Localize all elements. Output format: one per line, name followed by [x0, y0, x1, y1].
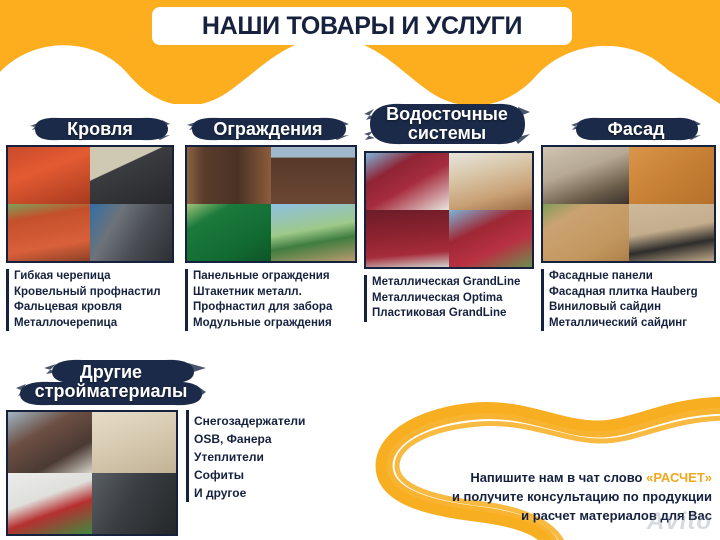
list-item: Профнастил для забора [193, 300, 357, 316]
photo-dark-soffit [92, 473, 176, 534]
category-label-drainage-line2: системы [408, 124, 486, 143]
list-item: Металлический сайдинг [549, 316, 716, 332]
category-label-roofing: Кровля [67, 120, 133, 139]
item-list-facade: Фасадные панели Фасадная плитка Hauberg … [541, 269, 716, 331]
page-title-badge: НАШИ ТОВАРЫ И УСЛУГИ [152, 7, 572, 45]
list-item: OSB, Фанера [194, 430, 305, 448]
photo-green-profile-fence [187, 204, 271, 261]
category-badge-fencing: Ограждения [187, 116, 349, 142]
photo-grid-other-materials [6, 410, 178, 536]
photo-red-shingle-house [8, 204, 90, 261]
category-badge-roofing: Кровля [30, 116, 170, 142]
category-card-roofing[interactable]: Кровля Гибкая черепица Кровельный профна… [6, 116, 174, 331]
photo-dark-metal-roof [90, 147, 172, 204]
list-item: Металлическая GrandLine [372, 275, 534, 291]
list-item: Модульные ограждения [193, 316, 357, 332]
photo-beige-siding-house [629, 204, 715, 261]
category-card-fencing[interactable]: Ограждения Панельные ограждения Штакетни… [185, 116, 357, 331]
category-badge-drainage: Водосточные системы [364, 100, 530, 148]
item-list-drainage: Металлическая GrandLine Металлическая Op… [364, 275, 534, 322]
list-item: Металлическая Optima [372, 291, 534, 307]
category-label-other-materials-line2: стройматериалы [35, 382, 188, 401]
page-title: НАШИ ТОВАРЫ И УСЛУГИ [202, 12, 522, 41]
photo-osb-plywood-stack [92, 412, 176, 473]
item-list-roofing: Гибкая черепица Кровельный профнастил Фа… [6, 269, 174, 331]
list-item: Фасадная плитка Hauberg [549, 285, 716, 301]
photo-brick-tile-facade [543, 204, 629, 261]
list-item: Пластиковая GrandLine [372, 306, 534, 322]
cta-line-1: Напишите нам в чат слово «РАСЧЕТ» [292, 468, 712, 487]
cta-keyword-raschet: «РАСЧЕТ» [646, 470, 712, 485]
photo-grid-roofing [6, 145, 174, 263]
list-item: Металлочерепица [14, 316, 174, 332]
photo-brown-corrugated-fence [271, 147, 355, 204]
list-item: Панельные ограждения [193, 269, 357, 285]
photo-stone-facade-house [543, 147, 629, 204]
category-label-other-materials: Другие [80, 363, 142, 382]
photo-brick-wall-downpipe [449, 153, 532, 210]
photo-red-tile-roof [8, 147, 90, 204]
photo-red-roof-gutter [366, 153, 449, 210]
photo-grid-facade [541, 145, 716, 263]
category-card-other-materials[interactable]: Другие стройматериалы Снегозадержатели [6, 358, 326, 536]
category-card-drainage[interactable]: Водосточные системы Металлическая GrandL… [364, 100, 534, 322]
photo-brown-picket-fence [187, 147, 271, 204]
photo-wood-siding-window [629, 147, 715, 204]
list-item: И другое [194, 484, 305, 502]
category-badge-other-materials: Другие стройматериалы [16, 358, 206, 406]
list-item: Фальцевая кровля [14, 300, 174, 316]
list-item: Утеплители [194, 448, 305, 466]
list-item: Виниловый сайдин [549, 300, 716, 316]
photo-insulation-technonicol [8, 473, 92, 534]
list-item: Гибкая черепица [14, 269, 174, 285]
category-badge-facade: Фасад [571, 116, 701, 142]
avito-watermark: Avito [647, 508, 712, 536]
photo-grid-drainage [364, 151, 534, 269]
cta-line-1-text: Напишите нам в чат слово [470, 470, 646, 485]
list-item: Снегозадержатели [194, 412, 305, 430]
category-label-facade: Фасад [607, 120, 664, 139]
photo-snow-guard-roof [8, 412, 92, 473]
list-item: Кровельный профнастил [14, 285, 174, 301]
list-item: Софиты [194, 466, 305, 484]
photo-welded-mesh-fence [271, 204, 355, 261]
photo-red-tile-roof-gutter [449, 210, 532, 267]
item-list-fencing: Панельные ограждения Штакетник металл. П… [185, 269, 357, 331]
category-card-facade[interactable]: Фасад Фасадные панели Фасадная плитка Ha… [541, 116, 716, 331]
list-item: Штакетник металл. [193, 285, 357, 301]
category-label-fencing: Ограждения [213, 120, 322, 139]
photo-red-gutter-closeup [366, 210, 449, 267]
poster-root: НАШИ ТОВАРЫ И УСЛУГИ Кровля [0, 0, 720, 540]
item-list-other-materials: Снегозадержатели OSB, Фанера Утеплители … [186, 410, 305, 502]
cta-line-2: и получите консультацию по продукции [292, 487, 712, 506]
category-label-drainage: Водосточные [386, 105, 508, 124]
photo-standing-seam-roof [90, 204, 172, 261]
photo-grid-fencing [185, 145, 357, 263]
list-item: Фасадные панели [549, 269, 716, 285]
